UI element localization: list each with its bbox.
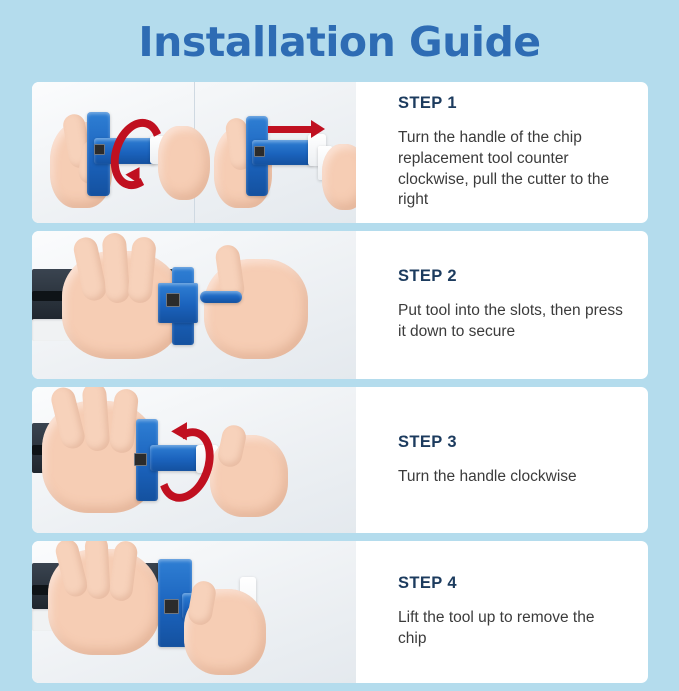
straight-right-arrow: [268, 126, 312, 133]
step-image-4: [32, 541, 356, 683]
finger: [84, 541, 110, 600]
step-label: STEP 4: [398, 574, 626, 593]
step-card-2[interactable]: STEP 2 Put tool into the slots, then pre…: [32, 231, 648, 379]
step-label: STEP 2: [398, 267, 626, 286]
step-text-1: STEP 1 Turn the handle of the chip repla…: [356, 82, 648, 223]
step-text-2: STEP 2 Put tool into the slots, then pre…: [356, 231, 648, 379]
step-card-1[interactable]: STEP 1 Turn the handle of the chip repla…: [32, 82, 648, 223]
step-image-2: [32, 231, 356, 379]
step-description: Lift the tool up to remove the chip: [398, 608, 626, 649]
chip: [166, 293, 180, 307]
step-label: STEP 1: [398, 94, 626, 113]
step-card-4[interactable]: STEP 4 Lift the tool up to remove the ch…: [32, 541, 648, 683]
step-text-3: STEP 3 Turn the handle clockwise: [356, 387, 648, 533]
tool-lever: [200, 291, 242, 303]
page-title: Installation Guide: [0, 18, 679, 66]
step-image-3: [32, 387, 356, 533]
step-description: Turn the handle of the chip replacement …: [398, 128, 626, 210]
chip: [94, 144, 105, 155]
finger: [82, 387, 111, 452]
step-card-3[interactable]: STEP 3 Turn the handle clockwise: [32, 387, 648, 533]
right-hand: [322, 144, 356, 210]
step-description: Put tool into the slots, then press it d…: [398, 301, 626, 342]
step-image-1: [32, 82, 356, 223]
step-text-4: STEP 4 Lift the tool up to remove the ch…: [356, 541, 648, 683]
step-label: STEP 3: [398, 433, 626, 452]
chip: [134, 453, 147, 466]
finger: [102, 232, 131, 304]
right-hand: [158, 126, 210, 200]
chip: [254, 146, 265, 157]
step-description: Turn the handle clockwise: [398, 467, 626, 488]
chip: [164, 599, 179, 614]
steps-list: STEP 1 Turn the handle of the chip repla…: [32, 82, 648, 691]
